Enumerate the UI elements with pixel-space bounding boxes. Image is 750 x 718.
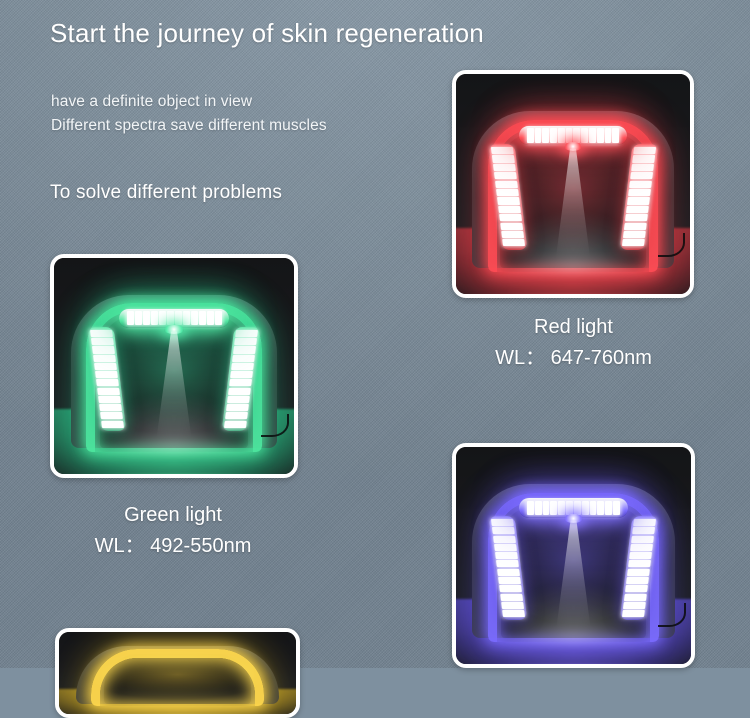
led-canopy-device-yellow xyxy=(59,632,296,714)
caption-red-wavelength: WL： 647-760nm xyxy=(452,342,695,374)
light-bloom xyxy=(456,447,691,664)
caption-green-wavelength: WL： 492-550nm xyxy=(48,530,298,562)
caption-green-name: Green light xyxy=(48,500,298,530)
subtitle-line-2: Different spectra save different muscles xyxy=(51,117,327,135)
light-bloom xyxy=(456,74,690,294)
led-canopy-device-red xyxy=(456,74,690,294)
caption-green-light: Green light WL： 492-550nm xyxy=(48,500,298,562)
product-image-blue-light xyxy=(452,443,695,668)
tagline: To solve different problems xyxy=(50,182,282,204)
subtitle-line-1: have a definite object in view xyxy=(51,93,252,111)
caption-red-name: Red light xyxy=(452,312,695,342)
caption-red-light: Red light WL： 647-760nm xyxy=(452,312,695,374)
page-title: Start the journey of skin regeneration xyxy=(50,18,484,49)
product-image-red-light xyxy=(452,70,694,298)
led-canopy-device-green xyxy=(54,258,294,474)
product-image-yellow-light xyxy=(55,628,300,718)
led-canopy-device-blue xyxy=(456,447,691,664)
light-bloom xyxy=(59,632,296,714)
light-bloom xyxy=(54,258,294,474)
product-image-green-light xyxy=(50,254,298,478)
